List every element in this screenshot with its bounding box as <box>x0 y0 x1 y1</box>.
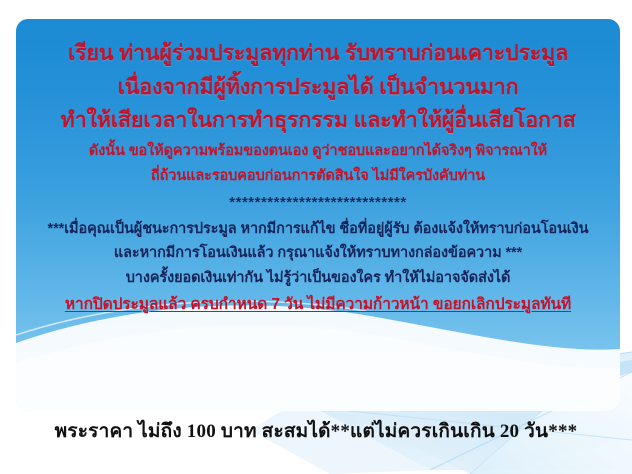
body-line-1: ***เมื่อคุณเป็นผู้ชนะการประมูล หากมีการแ… <box>16 222 620 237</box>
asterisk-divider: **************************** <box>16 195 620 210</box>
subheadline-line-1: ดังนั้น ขอให้ดูความพร้อมของตนเอง ดูว่าชอ… <box>16 144 620 159</box>
panel-content: เรียน ท่านผู้ร่วมประมูลทุกท่าน รับทราบก่… <box>16 19 620 411</box>
headline-line-3: ทำให้เสียเวลาในการทำธุรกรรม และทำให้ผู้อ… <box>16 110 620 132</box>
body-line-2: และหากมีการโอนเงินแล้ว กรุณาแจ้งให้ทราบท… <box>16 246 620 261</box>
announcement-banner: เรียน ท่านผู้ร่วมประมูลทุกท่าน รับทราบก่… <box>0 0 632 474</box>
body-line-3: บางครั้งยอดเงินเท่ากัน ไม่รู้ว่าเป็นของใ… <box>16 271 620 286</box>
subheadline-line-2: ถี่ถ้วนและรอบคอบก่อนการตัดสินใจ ไม่มีใคร… <box>16 169 620 184</box>
footer-note-container: พระราคา ไม่ถึง 100 บาท สะสมได้**แต่ไม่คว… <box>0 416 632 446</box>
blue-panel: เรียน ท่านผู้ร่วมประมูลทุกท่าน รับทราบก่… <box>16 19 620 411</box>
footer-note: พระราคา ไม่ถึง 100 บาท สะสมได้**แต่ไม่คว… <box>55 416 578 446</box>
warning-line: หากปิดประมูลแล้ว ครบกำหนด 7 วัน ไม่มีควา… <box>16 297 620 313</box>
headline-line-2: เนื่องจากมีผู้ทิ้งการประมูลได้ เป็นจำนวน… <box>16 77 620 99</box>
headline-line-1: เรียน ท่านผู้ร่วมประมูลทุกท่าน รับทราบก่… <box>16 43 620 65</box>
